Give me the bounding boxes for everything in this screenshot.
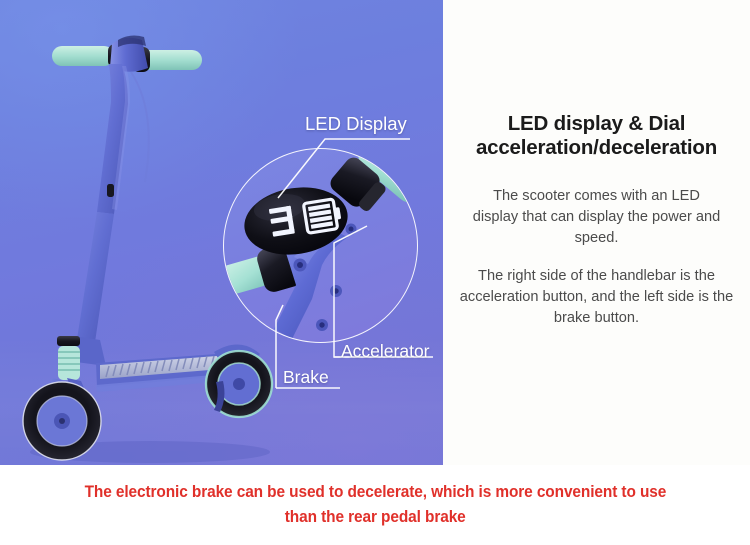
banner-line-1: The electronic brake can be used to dece… (84, 480, 666, 505)
feature-text-panel: LED display & Dial acceleration/decelera… (443, 0, 750, 465)
callout-label-accelerator: Accelerator (341, 341, 430, 362)
callout-leader-lines (0, 0, 443, 465)
bottom-highlight-banner: The electronic brake can be used to dece… (0, 465, 750, 545)
feature-title: LED display & Dial acceleration/decelera… (457, 112, 736, 160)
feature-paragraph-1: The scooter comes with an LED display th… (457, 186, 736, 249)
callout-label-led-display: LED Display (305, 113, 407, 135)
product-photo-panel: LED Display Accelerator Brake (0, 0, 443, 465)
banner-line-2: than the rear pedal brake (285, 505, 466, 530)
product-feature-slide: LED Display Accelerator Brake LED displa… (0, 0, 750, 545)
feature-title-line-1: LED display & Dial (508, 112, 686, 135)
feature-paragraph-2: The right side of the handlebar is the a… (457, 266, 736, 329)
callout-label-brake: Brake (283, 367, 329, 388)
feature-title-line-2: acceleration/deceleration (476, 136, 717, 159)
